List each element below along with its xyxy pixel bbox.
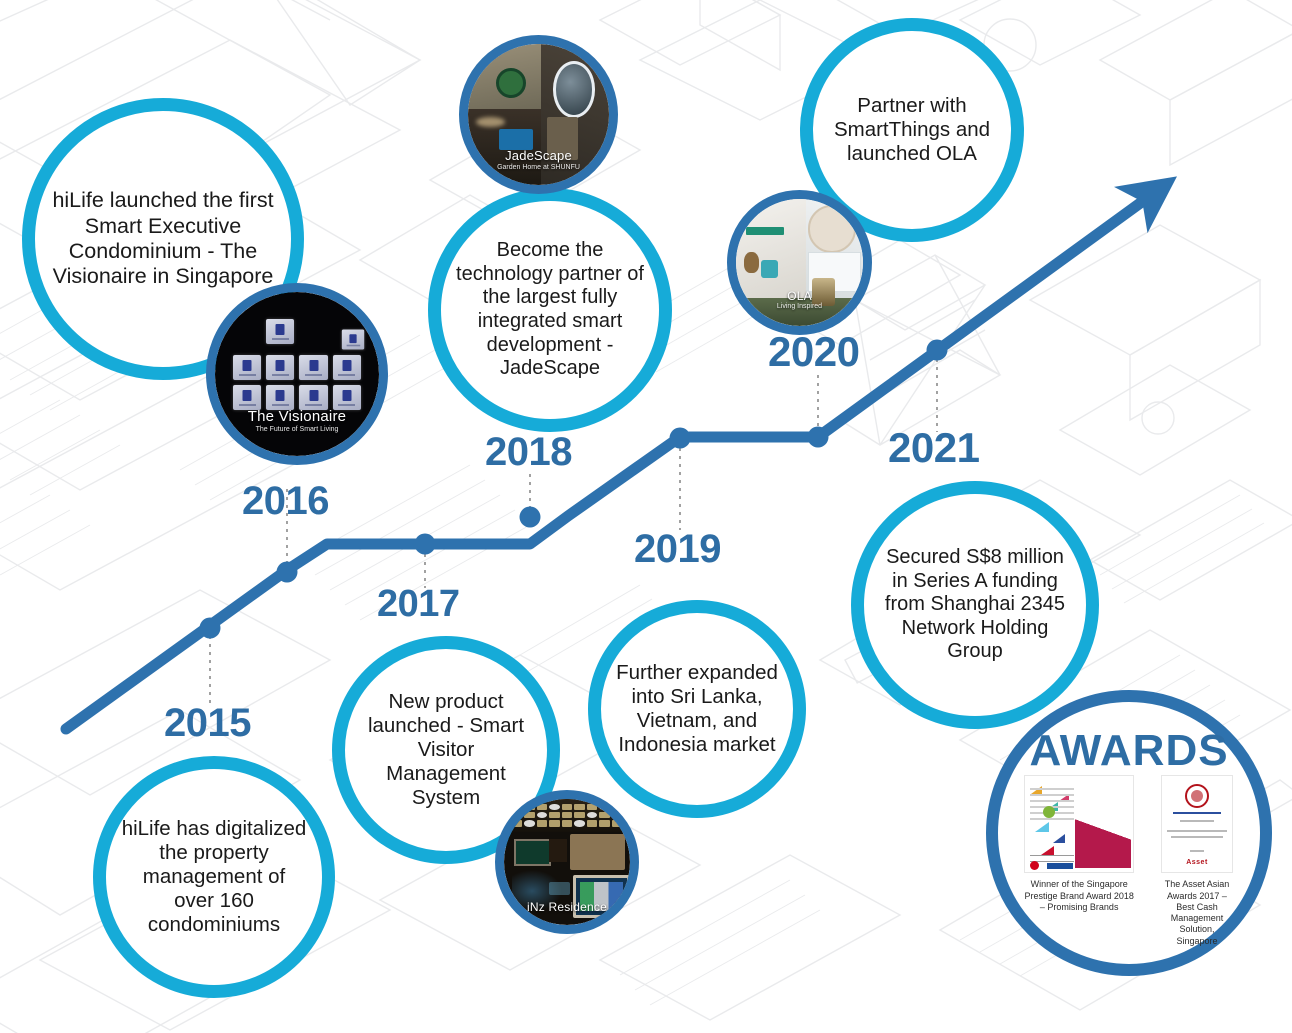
award-asset-asian-caption: The Asset Asian Awards 2017 – Best Cash … <box>1160 879 1234 947</box>
year-label-2016: 2016 <box>242 481 329 521</box>
certificate-mark: Asset <box>1186 859 1208 866</box>
visionaire-tile <box>266 355 294 380</box>
photo-visionaire-caption-sub: The Future of Smart Living <box>215 426 379 433</box>
timeline-infographic: 2015 2016 2017 2018 2019 2020 2021 hiLif… <box>0 0 1292 1033</box>
photo-jadescape-caption: JadeScape Garden Home at SHUNFU <box>468 149 609 171</box>
photo-jadescape-image: JadeScape Garden Home at SHUNFU <box>468 44 609 185</box>
milestone-text-2018: Become the technology partner of the lar… <box>441 239 659 381</box>
certificate-text-line <box>1167 830 1227 832</box>
certificate-text-line <box>1171 836 1223 838</box>
award-asset-asian[interactable]: Asset The Asset Asian Awards 2017 – Best… <box>1160 775 1234 947</box>
award-prestige-brand-image <box>1024 775 1134 873</box>
jadescape-lamp-glow <box>476 117 504 127</box>
awards-circle[interactable]: AWARDS <box>986 690 1272 976</box>
node-2017 <box>415 534 436 555</box>
photo-visionaire[interactable]: The Visionaire The Future of Smart Livin… <box>206 283 388 465</box>
jadescape-mirror <box>553 61 596 118</box>
node-2021 <box>927 340 948 361</box>
photo-inz-image: iNz Residence <box>504 799 630 925</box>
photo-jadescape[interactable]: JadeScape Garden Home at SHUNFU <box>459 35 618 194</box>
awards-certificates: Winner of the Singapore Prestige Brand A… <box>1024 775 1234 947</box>
visionaire-tile <box>233 355 261 380</box>
node-2020 <box>808 427 829 448</box>
year-label-2019: 2019 <box>634 529 721 569</box>
certificate-text-line <box>1173 812 1221 814</box>
photo-jadescape-caption-title: JadeScape <box>468 149 609 163</box>
year-label-2021: 2021 <box>888 427 979 469</box>
signature-line <box>1030 855 1074 856</box>
visionaire-tile <box>333 355 361 380</box>
visionaire-tile <box>299 385 327 410</box>
visionaire-tile-grid <box>233 325 361 410</box>
award-asset-asian-image: Asset <box>1161 775 1233 873</box>
milestone-text-2017: New product launched - Smart Visitor Man… <box>345 690 547 811</box>
ola-clock <box>808 205 855 252</box>
year-label-2018: 2018 <box>485 432 572 472</box>
photo-ola-caption-sub: Living Inspired <box>736 303 863 310</box>
photo-ola-caption: OLA Living Inspired <box>736 290 863 311</box>
node-2019 <box>670 428 691 449</box>
photo-visionaire-caption: The Visionaire The Future of Smart Livin… <box>215 409 379 433</box>
year-label-2015: 2015 <box>164 703 251 743</box>
award-prestige-brand[interactable]: Winner of the Singapore Prestige Brand A… <box>1024 775 1134 913</box>
awards-heading: AWARDS <box>998 726 1260 776</box>
photo-inz-residence[interactable]: iNz Residence <box>495 790 639 934</box>
visionaire-tile <box>342 329 365 349</box>
year-label-2020: 2020 <box>768 331 859 373</box>
inz-screen-mid <box>549 839 567 862</box>
milestone-bubble-2018[interactable]: Become the technology partner of the lar… <box>428 188 672 432</box>
sponsor-logo <box>1030 861 1039 870</box>
photo-jadescape-caption-sub: Garden Home at SHUNFU <box>468 164 609 171</box>
award-prestige-brand-caption: Winner of the Singapore Prestige Brand A… <box>1024 879 1134 913</box>
bird-shape <box>1041 846 1054 855</box>
ola-bear <box>744 252 759 272</box>
node-2016 <box>277 562 298 583</box>
visionaire-tile <box>333 385 361 410</box>
bird-shape <box>1053 834 1065 843</box>
milestone-bubble-2021[interactable]: Secured S$8 million in Series A funding … <box>851 481 1099 729</box>
inz-logo <box>549 882 569 895</box>
visionaire-tile <box>266 319 294 344</box>
visionaire-tile <box>266 385 294 410</box>
photo-ola[interactable]: OLA Living Inspired <box>727 190 872 335</box>
jadescape-screen <box>499 129 533 150</box>
visionaire-tile <box>233 385 261 410</box>
ola-chair <box>761 260 778 278</box>
milestone-bubble-2015[interactable]: hiLife has digitalized the property mana… <box>93 756 335 998</box>
origami-birds-art <box>1075 780 1131 868</box>
photo-inz-caption-title: iNz Residence <box>504 901 630 914</box>
photo-ola-image: OLA Living Inspired <box>736 199 863 326</box>
photo-visionaire-caption-title: The Visionaire <box>215 409 379 425</box>
milestone-text-2019: Further expanded into Sri Lanka, Vietnam… <box>601 661 793 758</box>
ola-sign <box>746 227 784 235</box>
milestone-text-2021: Secured S$8 million in Series A funding … <box>864 546 1086 664</box>
milestone-bubble-2019[interactable]: Further expanded into Sri Lanka, Vietnam… <box>588 600 806 818</box>
inz-light-grid <box>512 804 623 827</box>
milestone-text-2016: hiLife launched the first Smart Executiv… <box>35 188 291 289</box>
ola-wall <box>736 199 806 298</box>
inz-screen-left <box>514 839 551 866</box>
jadescape-disc <box>496 68 526 98</box>
node-2018 <box>520 507 541 528</box>
node-2015 <box>200 618 221 639</box>
year-label-2017: 2017 <box>377 585 460 623</box>
certificate-seal <box>1185 784 1209 808</box>
certificate-text-line <box>1180 820 1214 822</box>
visionaire-tile <box>299 355 327 380</box>
milestone-text-2015: hiLife has digitalized the property mana… <box>106 817 322 938</box>
photo-inz-caption: iNz Residence <box>504 901 630 915</box>
photo-ola-caption-title: OLA <box>736 290 863 303</box>
sponsor-logo <box>1047 863 1073 869</box>
certificate-text-line <box>1190 850 1204 852</box>
inz-wood-panel <box>570 834 625 869</box>
milestone-text-2020: Partner with SmartThings and launched OL… <box>813 94 1011 167</box>
photo-visionaire-image: The Visionaire The Future of Smart Livin… <box>215 292 379 456</box>
